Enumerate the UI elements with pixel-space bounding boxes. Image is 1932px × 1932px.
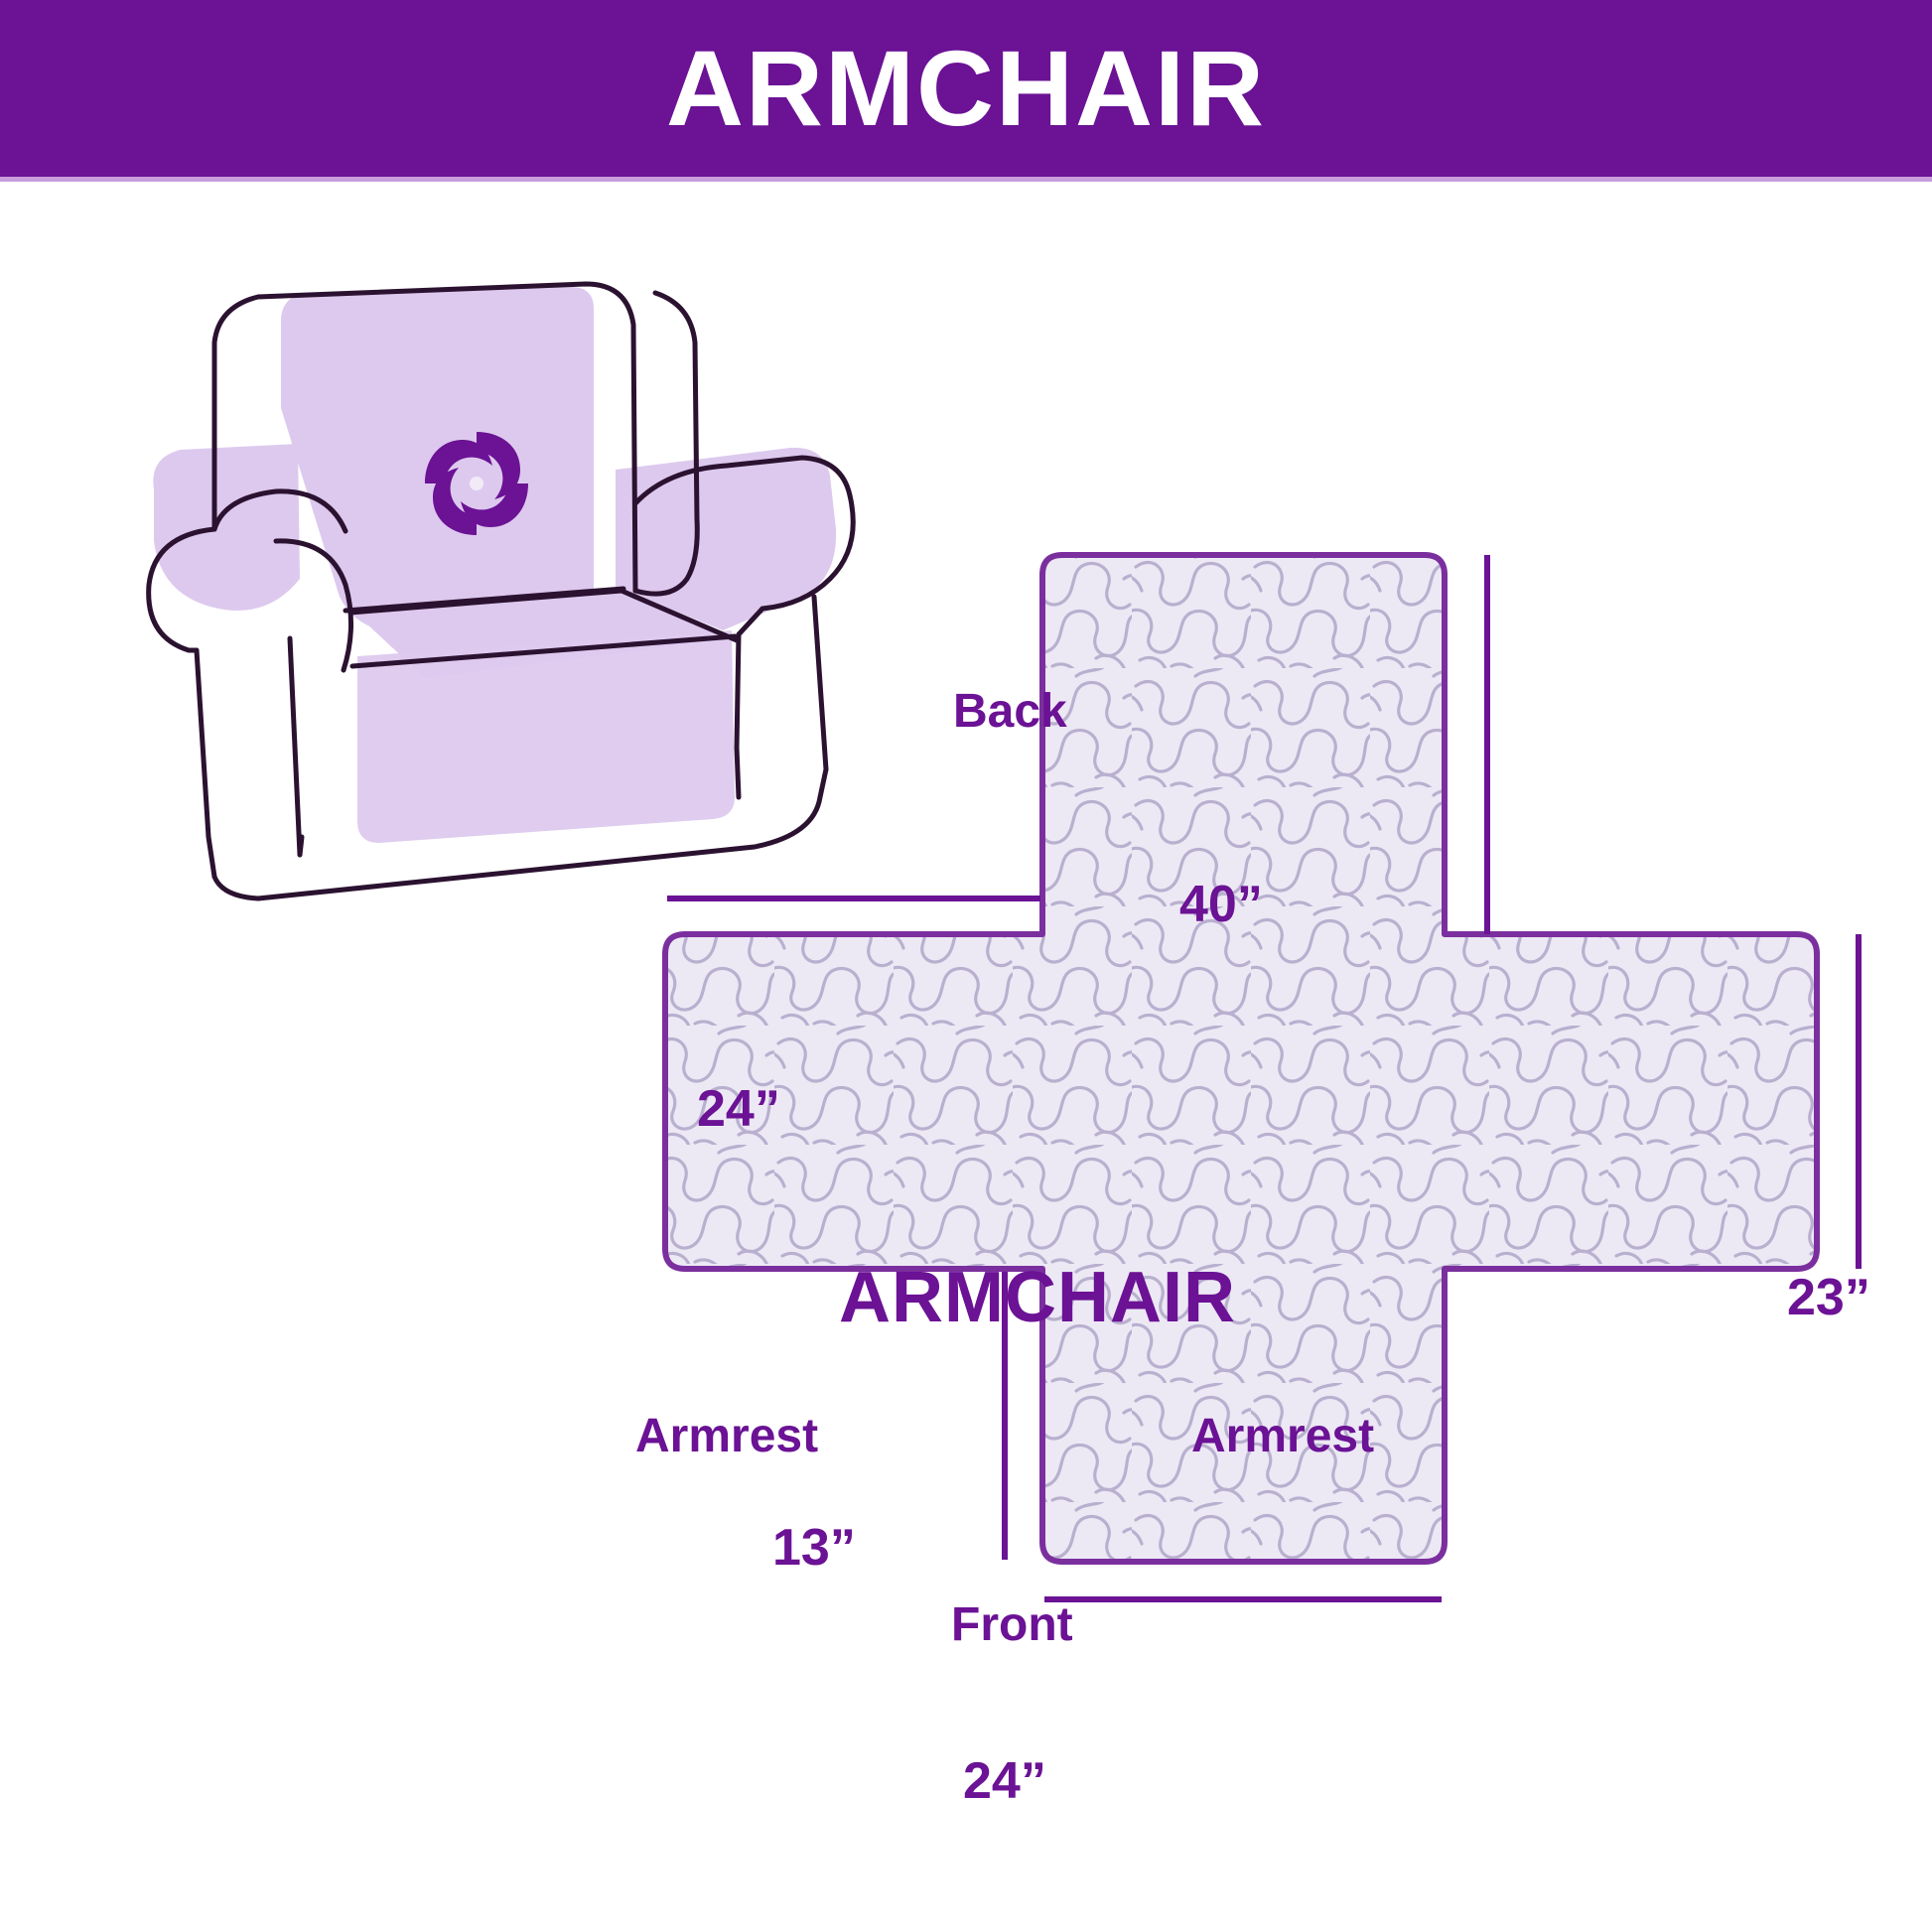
chair-left-arm-front — [197, 650, 214, 877]
section-label-armrest-right: Armrest — [1191, 1413, 1374, 1460]
dimension-label-front-height: 13” — [772, 1522, 856, 1574]
slipcover-pattern-diagram: Back Armrest Armrest Front ARMCHAIR 40” … — [655, 549, 1886, 1860]
page-title: ARMCHAIR — [666, 35, 1266, 142]
pattern-center-label: ARMCHAIR — [839, 1262, 1236, 1333]
chair-left-arm-front-inner — [290, 638, 300, 855]
dimension-label-back-height: 40” — [1179, 879, 1263, 930]
content-stage: Back Armrest Armrest Front ARMCHAIR 40” … — [0, 182, 1932, 1932]
dimension-label-front-width: 24” — [963, 1755, 1046, 1807]
dimension-label-back-width: 24” — [697, 1083, 780, 1135]
header-banner: ARMCHAIR — [0, 0, 1932, 177]
section-label-armrest-left: Armrest — [635, 1413, 818, 1460]
section-label-front: Front — [951, 1601, 1073, 1649]
section-label-back: Back — [953, 688, 1067, 736]
chair-left-arm-cover — [153, 444, 300, 611]
chair-body-left — [300, 837, 302, 855]
dimension-label-armrest-height: 23” — [1787, 1272, 1870, 1323]
